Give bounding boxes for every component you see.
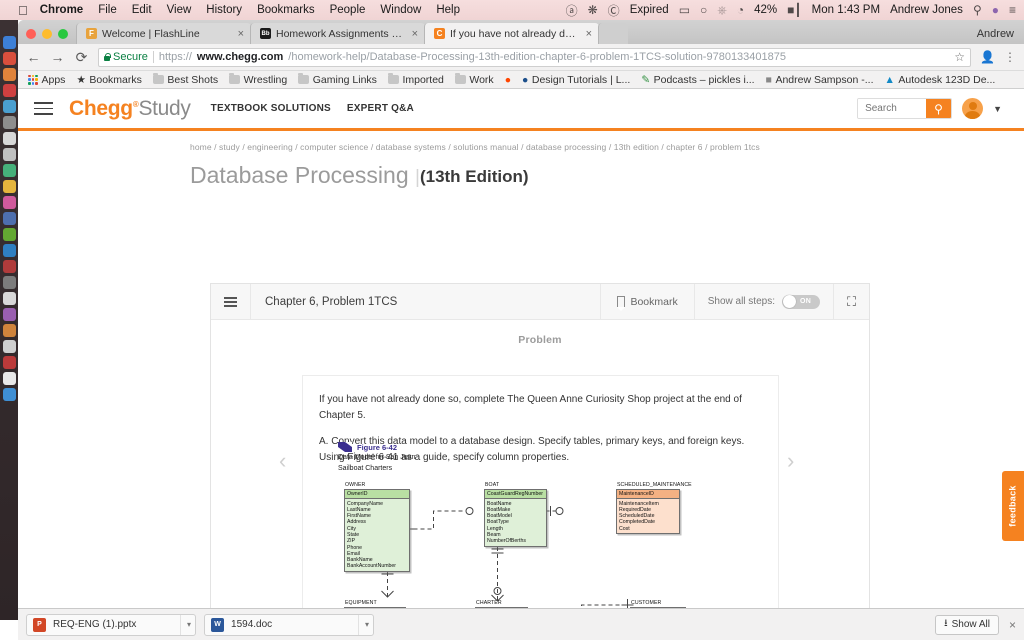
bookmark-label: Gaming Links [313,74,377,86]
dropbox-icon[interactable]: ❋ [588,3,598,17]
dock-icon[interactable] [3,196,16,209]
download-item-doc[interactable]: W 1594.doc ▾ [204,614,374,636]
dock-icon[interactable] [3,308,16,321]
entity-fields: CompanyName LastName FirstName Address C… [345,499,409,571]
solution-card: Chapter 6, Problem 1TCS Bookmark Show al… [210,283,870,608]
bookmark-apps[interactable]: Apps [28,74,65,86]
dock-icon[interactable] [3,100,16,113]
dock-icon[interactable] [3,388,16,401]
menu-file[interactable]: File [98,4,117,16]
dock-icon[interactable] [3,84,16,97]
dock-icon[interactable] [3,324,16,337]
reddit-icon: ● [505,74,511,86]
previous-problem-arrow-icon[interactable]: ‹ [279,448,286,474]
address-bar[interactable]: Secure https://www.chegg.com/homework-he… [98,48,971,67]
figure-marker-icon [338,442,352,452]
bluetooth-icon[interactable]: ⎈ [717,3,727,18]
show-all-label: Show All [952,619,990,630]
list-icon [224,297,237,307]
problem-paragraph: If you have not already done so, complet… [319,392,762,423]
bookmark-star-icon[interactable]: ☆ [954,50,965,64]
battery-icon[interactable]: ■┃ [787,3,801,17]
dock-icon[interactable] [3,180,16,193]
menu-window[interactable]: Window [380,4,421,16]
tab-homework-assignments[interactable]: Bb Homework Assignments – MIS × [250,23,425,44]
avatar[interactable] [962,98,983,119]
field: BankAccountNumber [347,563,407,569]
folder-icon [388,75,399,84]
download-menu-icon[interactable]: ▾ [358,615,369,635]
maximize-window-button[interactable] [58,29,68,39]
notification-center-icon[interactable]: ≡ [1009,3,1016,17]
header-right-area: ⚲ ▼ [857,98,1002,119]
primary-key-field: CoastGuardRegNumber [485,490,546,499]
downloads-bar-right: ⭳ Show All × [935,615,1016,635]
problem-title: Chapter 6, Problem 1TCS [251,296,600,308]
bookmark-flag-icon [617,296,625,307]
download-filename: 1594.doc [231,619,351,630]
bookmark-autodesk[interactable]: ▲ Autodesk 123D De... [884,74,995,86]
dock-icon[interactable] [3,148,16,161]
url-path: /homework-help/Database-Processing-13th-… [288,51,786,63]
entity-owner: OWNER OwnerID CompanyName LastName First… [344,489,410,572]
bookmark-design-tutorials[interactable]: ● Design Tutorials | L... [522,74,630,86]
bookmark-imported[interactable]: Imported [388,74,444,86]
messages-icon[interactable]: ○ [700,3,707,17]
folder-icon [298,75,309,84]
bookmark-label: Design Tutorials | L... [532,74,630,86]
book-title-text: Database Processing [190,162,409,188]
tab-chegg-solution[interactable]: C If you have not already done so × [424,23,599,44]
expired-status-label[interactable]: Expired [630,4,669,16]
site-nav: TEXTBOOK SOLUTIONS EXPERT Q&A [211,103,414,114]
menu-people[interactable]: People [330,4,366,16]
chrome-menu-icon[interactable]: ⋮ [1004,50,1016,64]
tab-title: Welcome | FlashLine [102,28,230,40]
menu-history[interactable]: History [206,4,242,16]
steps-list-button[interactable] [211,284,251,319]
solution-card-body: Problem ‹ › If you have not already done… [211,320,869,608]
entity-name: OWNER [345,482,365,488]
chegg-site-header: Chegg®Study TEXTBOOK SOLUTIONS EXPERT Q&… [18,89,1024,131]
dock-icon[interactable] [3,52,16,65]
entity-fields: BoatName BoatMake BoatModel BoatType Len… [485,499,546,546]
chrome-profile-name[interactable]: Andrew [977,28,1014,40]
bookmark-label: Imported [402,74,443,86]
back-button-icon[interactable]: ← [26,49,41,65]
macos-menu-bar:  Chrome File Edit View History Bookmark… [0,0,1024,20]
site-icon: ● [522,74,528,86]
battery-percent-label: 42% [754,4,777,16]
figure-caption-line1: Data Model for San Juan [338,454,808,463]
dock-icon[interactable] [3,36,16,49]
site-icon: ■ [766,74,772,86]
entity-name: BOAT [485,482,499,488]
autodesk-icon: ▲ [884,74,894,86]
dock-icon[interactable] [3,244,16,257]
bookmark-label: Podcasts – pickles i... [654,74,755,86]
download-item-pptx[interactable]: P REQ-ENG (1).pptx ▾ [26,614,196,636]
word-icon: W [211,618,224,632]
dock-icon[interactable] [3,164,16,177]
clock-label[interactable]: Mon 1:43 PM [812,4,880,16]
entity-scheduled-maintenance: SCHEDULED_MAINTENANCE MaintenanceID Main… [616,489,680,534]
new-tab-button[interactable] [598,23,628,44]
menu-chrome[interactable]: Chrome [40,4,83,16]
bookmark-podcasts[interactable]: ✎ Podcasts – pickles i... [641,74,754,86]
folder-icon [455,75,466,84]
menu-bar-status-area: ⓐ ❋ Ⓒ Expired ▭ ○ ⎈ ◔ 42% ■┃ Mon 1:43 PM… [566,2,1024,19]
show-all-steps-control: Show all steps: ON [694,284,833,319]
menu-help[interactable]: Help [436,4,460,16]
search-icon[interactable]: ⚲ [926,99,951,118]
bookmark-reddit[interactable]: ● [505,74,511,86]
nav-expert-qa[interactable]: EXPERT Q&A [347,103,414,114]
close-tab-icon[interactable]: × [586,28,592,40]
bookmark-label: Wrestling [244,74,288,86]
hamburger-menu-icon[interactable] [34,102,53,114]
apps-grid-icon [28,75,38,85]
secure-badge: Secure [104,51,148,63]
bookmark-wrestling[interactable]: Wrestling [229,74,287,86]
figure-title: Figure 6-42 [338,442,808,452]
powerpoint-icon: P [33,618,46,632]
feedback-label: feedback [1008,485,1018,526]
profile-avatar-icon[interactable]: 👤 [980,50,995,64]
window-controls [18,29,76,44]
account-name-label[interactable]: Andrew Jones [890,4,963,16]
chevron-down-icon[interactable]: ▼ [993,104,1002,114]
search-box[interactable]: ⚲ [857,98,952,119]
download-menu-icon[interactable]: ▾ [180,615,191,635]
wifi-icon[interactable]: ◔ [737,3,744,17]
macos-dock [0,20,18,620]
menu-edit[interactable]: Edit [132,4,152,16]
chegg-favicon-icon: C [434,28,445,39]
dock-icon[interactable] [3,292,16,305]
siri-icon[interactable]: ● [992,3,999,17]
tab-strip: F Welcome | FlashLine × Bb Homework Assi… [18,20,1024,44]
screen:  Chrome File Edit View History Bookmark… [0,0,1024,640]
dock-icon[interactable] [3,212,16,225]
figure-block: Figure 6-42 Data Model for San Juan Sail… [338,442,808,608]
logo-light-text: Study [138,97,190,120]
logo-bold-text: Chegg [69,97,133,120]
url-scheme: https:// [159,51,192,63]
bookmark-label: Best Shots [167,74,218,86]
flashline-favicon-icon: F [86,28,97,39]
toggle-state-label: ON [800,298,811,305]
apple-logo-icon[interactable]:  [18,3,28,18]
show-all-steps-toggle[interactable]: ON [782,295,820,309]
dock-icon[interactable] [3,68,16,81]
lock-icon [104,53,110,61]
reload-button-icon[interactable]: ⟳ [74,49,89,66]
show-all-steps-label: Show all steps: [708,296,775,307]
figure-caption-line2: Sailboat Charters [338,465,808,474]
secure-label: Secure [113,51,148,63]
close-tab-icon[interactable]: × [238,28,244,40]
bookmark-label: Apps [42,74,66,86]
entity-fields: MaintenanceItem RequiredDate ScheduledDa… [617,499,679,533]
menu-view[interactable]: View [167,4,192,16]
er-diagram: OWNER OwnerID CompanyName LastName First… [338,479,808,608]
entity-boat: BOAT CoastGuardRegNumber BoatName BoatMa… [484,489,547,547]
close-tab-icon[interactable]: × [412,28,418,40]
bookmark-button[interactable]: Bookmark [600,284,693,319]
downloads-bar: P REQ-ENG (1).pptx ▾ W 1594.doc ▾ ⭳ Show… [18,608,1024,640]
airplay-icon[interactable]: ▭ [679,3,690,17]
chegg-logo[interactable]: Chegg®Study [69,97,191,121]
dock-icon[interactable] [3,228,16,241]
spotlight-search-icon[interactable]: ⚲ [973,3,982,17]
menu-bookmarks[interactable]: Bookmarks [257,4,315,16]
blackboard-favicon-icon: Bb [260,28,271,39]
dock-icon[interactable] [3,260,16,273]
pencil-icon: ✎ [641,74,650,86]
breadcrumb[interactable]: home / study / engineering / computer sc… [18,131,1024,152]
dock-icon[interactable] [3,372,16,385]
forward-button-icon[interactable]: → [50,49,65,65]
book-edition-text: (13th Edition) [420,167,529,186]
tab-flashline[interactable]: F Welcome | FlashLine × [76,23,251,44]
at-icon[interactable]: ⓐ [566,2,578,19]
dock-icon[interactable] [3,132,16,145]
section-label: Problem [211,320,869,346]
field: Cost [619,526,677,532]
tab-title: If you have not already done so [450,28,578,40]
copyright-icon[interactable]: Ⓒ [608,2,620,19]
dock-icon[interactable] [3,356,16,369]
url-domain: www.chegg.com [197,51,283,63]
entity-name: EQUIPMENT [345,600,377,606]
dock-icon[interactable] [3,116,16,129]
download-filename: REQ-ENG (1).pptx [53,619,173,630]
web-page-content: Chegg®Study TEXTBOOK SOLUTIONS EXPERT Q&… [18,89,1024,608]
folder-icon [153,75,164,84]
tab-title: Homework Assignments – MIS [276,28,404,40]
close-window-button[interactable] [26,29,36,39]
search-input[interactable] [858,99,926,118]
bookmark-andrew-sampson[interactable]: ■ Andrew Sampson -... [766,74,874,86]
show-all-downloads-button[interactable]: ⭳ Show All [935,615,999,635]
bookmark-label: Bookmark [630,296,677,308]
fullscreen-button[interactable]: ⛶ [833,284,869,319]
download-arrow-icon: ⭳ [944,616,948,633]
entity-name: CUSTOMER [631,600,661,606]
bookmark-label: Autodesk 123D De... [898,74,995,86]
dock-icon[interactable] [3,340,16,353]
field: NumberOfBerths [487,538,544,544]
bookmarks-bar: Apps ★ Bookmarks Best Shots Wrestling Ga… [18,71,1024,89]
bookmark-label: Andrew Sampson -... [775,74,873,86]
minimize-window-button[interactable] [42,29,52,39]
toggle-knob [783,295,796,308]
page-title: Database Processing |(13th Edition) [18,152,1024,189]
feedback-tab[interactable]: feedback [1002,471,1024,541]
figure-number: Figure 6-42 [357,443,397,452]
bookmark-gaming-links[interactable]: Gaming Links [298,74,377,86]
star-icon: ★ [76,74,85,86]
primary-key-field: MaintenanceID [617,490,679,499]
bookmark-label: Work [469,74,493,86]
omnibox-divider [153,51,154,63]
nav-textbook-solutions[interactable]: TEXTBOOK SOLUTIONS [211,103,331,114]
folder-icon [229,75,240,84]
problem-text-box: If you have not already done so, complet… [302,375,779,608]
window-right-controls: Andrew [977,28,1024,44]
close-downloads-bar-icon[interactable]: × [1009,618,1016,632]
solution-card-header: Chapter 6, Problem 1TCS Bookmark Show al… [211,284,869,320]
entity-name: SCHEDULED_MAINTENANCE [617,482,692,488]
bookmark-work[interactable]: Work [455,74,494,86]
dock-icon[interactable] [3,276,16,289]
bookmark-bookmarks[interactable]: ★ Bookmarks [76,74,141,86]
bookmark-label: Bookmarks [89,74,142,86]
entity-name: CHARTER [476,600,502,606]
primary-key-field: OwnerID [345,490,409,499]
browser-toolbar: ← → ⟳ Secure https://www.chegg.com/homew… [18,44,1024,71]
bookmark-best-shots[interactable]: Best Shots [153,74,218,86]
